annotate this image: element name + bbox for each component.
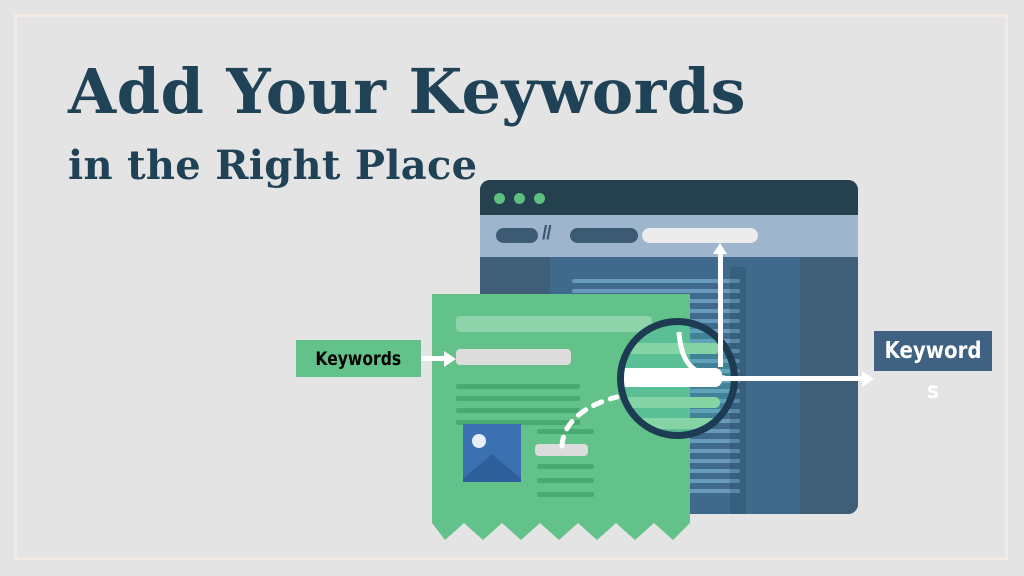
magnified-text-bar xyxy=(620,397,720,408)
url-separator-slashes: // xyxy=(542,223,551,245)
url-keyword-highlight-pill xyxy=(642,228,758,243)
magnified-text-bar xyxy=(620,418,720,429)
document-torn-edge xyxy=(432,521,690,540)
arrow-up-head-icon xyxy=(713,243,727,254)
url-domain-pill xyxy=(570,228,638,243)
page-title: Add Your Keywords in the Right Place xyxy=(68,60,788,187)
arrow-right-head-icon xyxy=(862,371,874,387)
slide-canvas: Add Your Keywords in the Right Place // xyxy=(0,0,1024,576)
browser-titlebar xyxy=(480,180,858,215)
keywords-label-right-text: Keywords xyxy=(882,331,983,411)
traffic-light-dot-icon xyxy=(514,193,525,204)
browser-address-bar[interactable]: // xyxy=(480,215,858,257)
connector-horizontal-right xyxy=(722,376,864,381)
arrow-right-head-icon-left xyxy=(444,351,456,367)
keywords-label-left-text: Keywords xyxy=(316,348,402,370)
connector-curve-right xyxy=(675,330,735,380)
keywords-label-right[interactable]: Keywords xyxy=(874,331,992,371)
traffic-light-dot-icon xyxy=(494,193,505,204)
traffic-light-dot-icon xyxy=(534,193,545,204)
keywords-label-left[interactable]: Keywords xyxy=(296,340,421,377)
browser-content-line xyxy=(572,289,740,293)
browser-content-line xyxy=(572,279,740,283)
url-protocol-pill xyxy=(496,228,538,243)
headline-line-1: Add Your Keywords xyxy=(68,60,788,123)
